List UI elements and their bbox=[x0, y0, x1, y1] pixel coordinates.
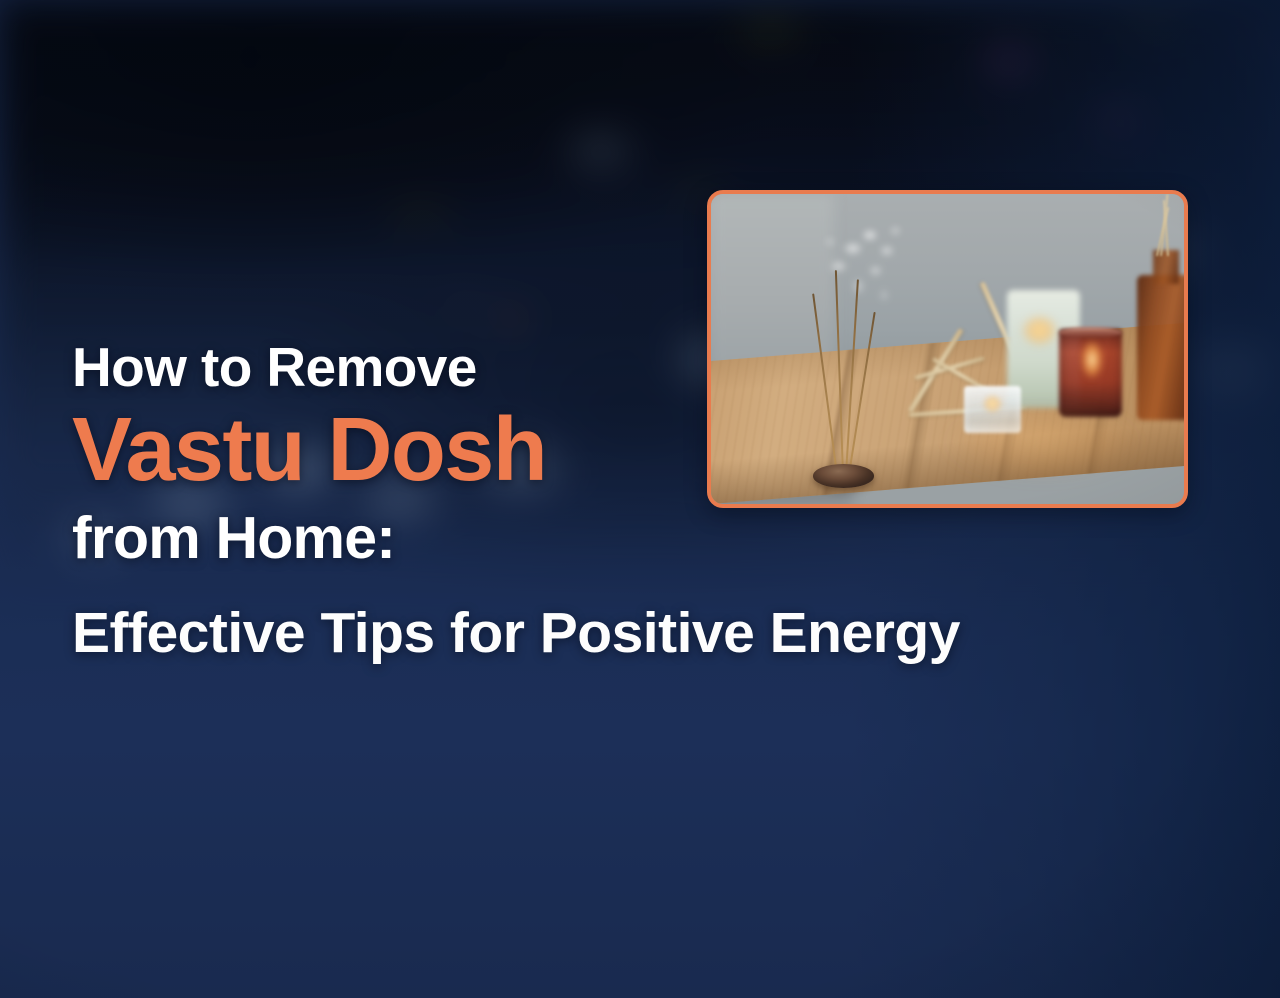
photo-edge-softening bbox=[711, 194, 1184, 504]
headline-subtitle: Effective Tips for Positive Energy bbox=[72, 600, 1072, 666]
headline-line-3: from Home: bbox=[72, 504, 1072, 572]
feature-photo-image bbox=[711, 194, 1184, 504]
vastu-dosh-banner: How to Remove Vastu Dosh from Home: Effe… bbox=[0, 0, 1280, 998]
feature-photo-card bbox=[707, 190, 1188, 508]
